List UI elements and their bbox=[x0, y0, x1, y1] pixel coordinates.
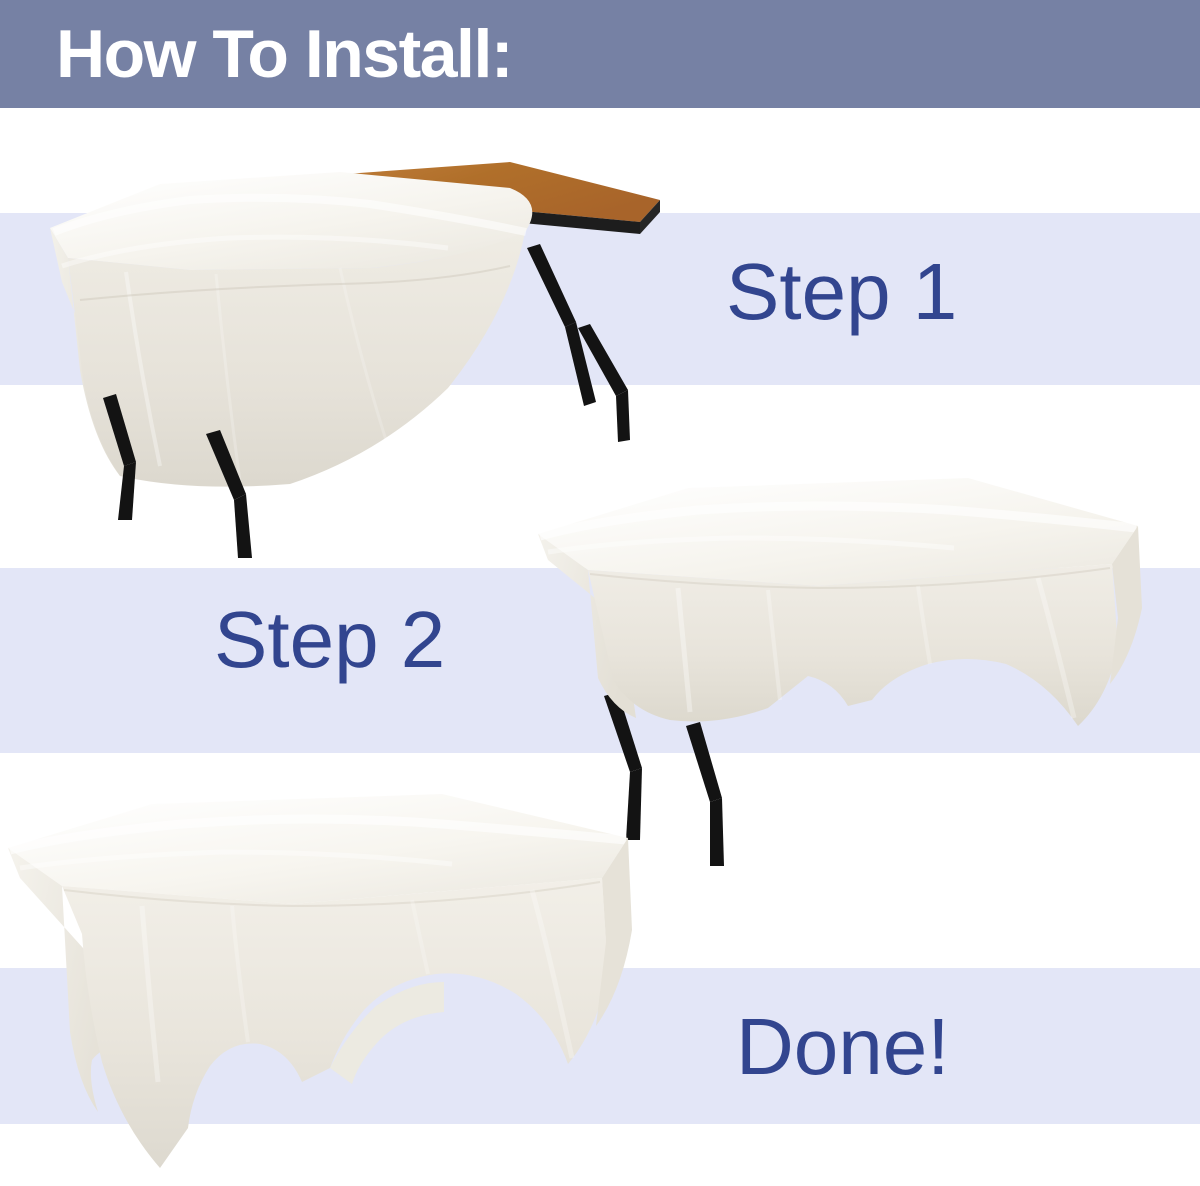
page-title: How To Install: bbox=[56, 14, 512, 94]
tablecloth-cover bbox=[8, 794, 632, 1168]
done-illustration bbox=[0, 782, 672, 1186]
header-bar: How To Install: bbox=[0, 0, 1200, 108]
table-leg-far bbox=[527, 244, 630, 442]
tablecloth-cover bbox=[538, 478, 1142, 726]
step-2-label: Step 2 bbox=[214, 600, 445, 680]
done-label: Done! bbox=[736, 1007, 949, 1087]
instructional-graphic: How To Install: bbox=[0, 0, 1200, 1186]
step-1-label: Step 1 bbox=[726, 252, 957, 332]
